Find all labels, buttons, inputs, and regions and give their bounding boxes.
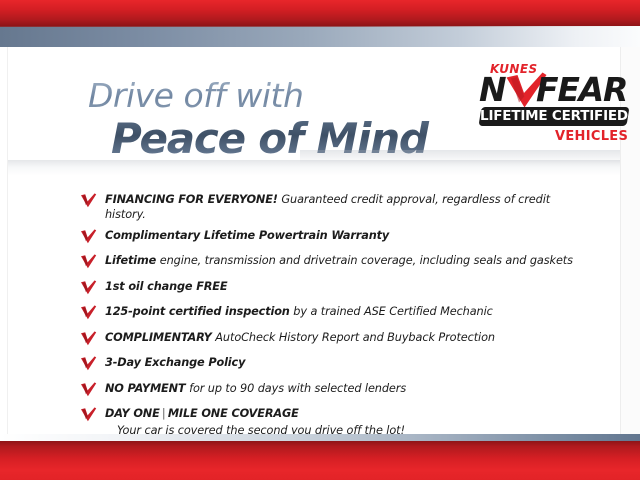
bottom-red-bar (0, 441, 640, 480)
list-item: NO PAYMENT for up to 90 days with select… (80, 381, 580, 401)
left-edge-rule (7, 47, 8, 434)
list-item: 3-Day Exchange Policy (80, 355, 580, 375)
list-item: 125-point certified inspection by a trai… (80, 304, 580, 324)
red-checkmark-icon (80, 280, 97, 295)
benefit-strong: 1st oil change FREE (105, 280, 227, 293)
benefit-divider: | (160, 407, 168, 420)
list-item: 1st oil change FREE (80, 279, 580, 299)
red-checkmark-icon (80, 229, 97, 244)
logo-certified-banner: LIFETIME CERTIFIED (478, 107, 629, 126)
logo-letter-n: N (479, 74, 506, 106)
benefit-strong: Complimentary Lifetime Powertrain Warran… (105, 229, 389, 242)
logo-no-fear-wordmark: N FEAR (478, 74, 630, 106)
benefit-strong: DAY ONE (105, 407, 160, 420)
red-checkmark-icon (80, 254, 97, 269)
bottom-slate-bar (0, 434, 640, 441)
list-item: FINANCING FOR EVERYONE! Guaranteed credi… (80, 192, 580, 222)
logo-certified-text: LIFETIME CERTIFIED (480, 107, 628, 126)
top-slate-bar (0, 26, 640, 47)
red-checkmark-icon (80, 193, 97, 208)
logo-footer-text: VEHICLES (555, 129, 628, 144)
benefit-strong: Lifetime (105, 254, 156, 267)
headline-line-1: Drive off with (88, 78, 488, 114)
red-checkmark-icon (80, 356, 97, 371)
red-checkmark-icon (80, 305, 97, 320)
red-checkmark-icon (80, 382, 97, 397)
benefit-regular: AutoCheck History Report and Buyback Pro… (215, 331, 495, 344)
benefit-strong: COMPLIMENTARY (105, 331, 212, 344)
list-item: Complimentary Lifetime Powertrain Warran… (80, 228, 580, 248)
red-checkmark-icon (80, 331, 97, 346)
top-red-bar (0, 0, 640, 26)
benefits-list: FINANCING FOR EVERYONE! Guaranteed credi… (80, 192, 580, 444)
benefit-strong: 3-Day Exchange Policy (105, 356, 245, 369)
benefit-regular: engine, transmission and drivetrain cove… (160, 254, 573, 267)
kunes-no-fear-logo: KUNES N FEAR LIFETIME CERTIFIED VEHICLES (478, 62, 630, 148)
benefit-regular: by a trained ASE Certified Mechanic (293, 305, 492, 318)
list-item: Lifetime engine, transmission and drivet… (80, 253, 580, 273)
list-item: COMPLIMENTARY AutoCheck History Report a… (80, 330, 580, 350)
benefit-strong: 125-point certified inspection (105, 305, 290, 318)
benefit-regular: for up to 90 days with selected lenders (189, 382, 406, 395)
red-checkmark-icon (80, 407, 97, 422)
logo-word-fear: FEAR (536, 74, 627, 106)
benefit-strong-secondary: MILE ONE COVERAGE (168, 407, 299, 420)
header-shadow-band (8, 160, 620, 176)
advertisement-canvas: Drive off with Peace of Mind KUNES N FEA… (0, 0, 640, 480)
benefit-strong: NO PAYMENT (105, 382, 185, 395)
benefit-strong: FINANCING FOR EVERYONE! (105, 193, 278, 206)
